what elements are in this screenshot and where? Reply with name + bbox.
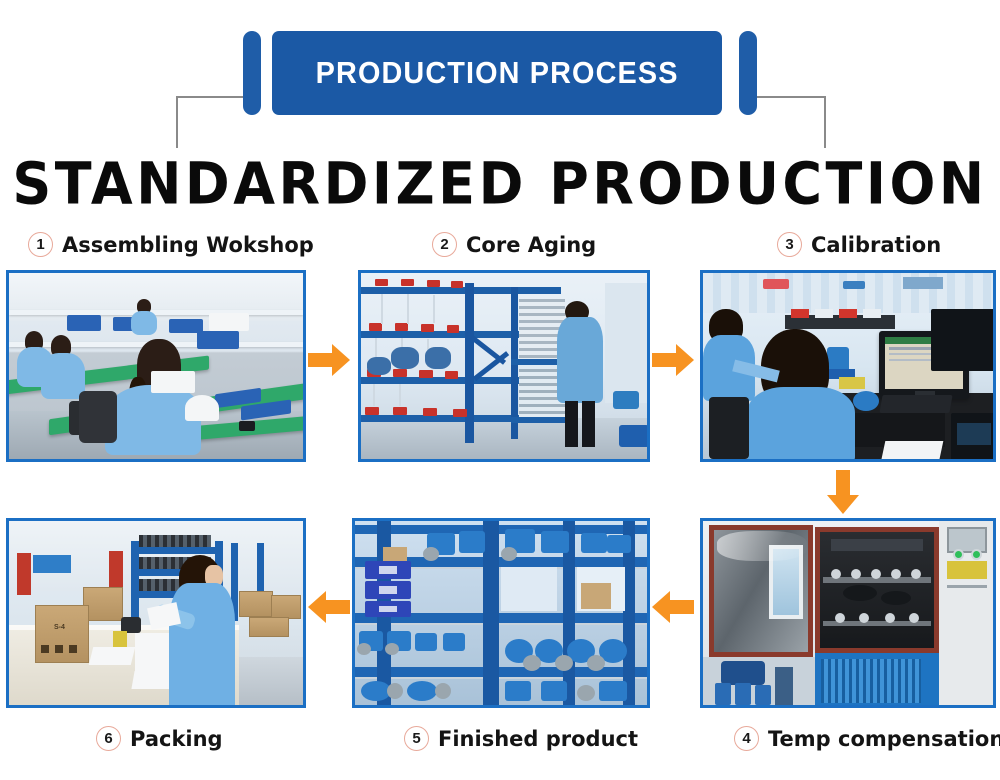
step-label-text-2: Core Aging — [466, 233, 596, 257]
step-label-3: 3 Calibration — [777, 232, 941, 257]
production-process-infographic: PRODUCTION PROCESS STANDARDIZED PRODUCTI… — [0, 0, 1000, 780]
step-label-text-6: Packing — [130, 727, 223, 751]
header-connector-line-right — [756, 96, 826, 98]
photo-scene-packing: S-4 — [9, 521, 303, 705]
photo-frame-1 — [6, 270, 306, 462]
step-label-6: 6 Packing — [96, 726, 223, 751]
step-label-1: 1 Assembling Wokshop — [28, 232, 314, 257]
photo-frame-6: S-4 — [6, 518, 306, 708]
header-connector-line-right-down — [824, 96, 826, 148]
photo-frame-5 — [352, 518, 650, 708]
step-label-text-4: Temp compensation — [768, 727, 1000, 751]
step-number-badge-2: 2 — [432, 232, 457, 257]
arrow-step5-to-step6 — [308, 590, 350, 624]
arrow-step2-to-step3 — [652, 343, 694, 377]
step-number-badge-5: 5 — [404, 726, 429, 751]
step-photo-5[interactable] — [352, 518, 650, 708]
photo-scene-assembling-workshop — [9, 273, 303, 459]
arrow-step4-to-step5 — [652, 590, 694, 624]
step-number-badge-6: 6 — [96, 726, 121, 751]
photo-frame-3 — [700, 270, 996, 462]
step-label-text-3: Calibration — [811, 233, 941, 257]
step-photo-6[interactable]: S-4 — [6, 518, 306, 708]
photo-scene-calibration — [703, 273, 993, 459]
step-photo-4[interactable] — [700, 518, 996, 708]
packing-box-label: S-4 — [54, 624, 65, 631]
arrow-step1-to-step2 — [308, 343, 350, 377]
header-title-text: PRODUCTION PROCESS — [316, 55, 679, 91]
header-banner: PRODUCTION PROCESS — [0, 0, 1000, 148]
photo-scene-temp-compensation — [703, 521, 993, 705]
photo-frame-2 — [358, 270, 650, 462]
step-number-badge-3: 3 — [777, 232, 802, 257]
step-label-2: 2 Core Aging — [432, 232, 596, 257]
arrow-step3-to-step4 — [826, 470, 860, 514]
header-title-plate: PRODUCTION PROCESS — [272, 31, 722, 115]
step-photo-1[interactable] — [6, 270, 306, 462]
page-title: STANDARDIZED PRODUCTION — [0, 149, 1000, 217]
photo-scene-temp-compensation-frame — [700, 518, 996, 708]
photo-scene-core-aging — [361, 273, 647, 459]
header-connector-line-left-down — [176, 96, 178, 148]
header-accent-bar-right — [739, 31, 757, 115]
photo-scene-finished-product — [355, 521, 647, 705]
step-number-badge-1: 1 — [28, 232, 53, 257]
step-label-text-1: Assembling Wokshop — [62, 233, 314, 257]
header-accent-bar-left — [243, 31, 261, 115]
header-connector-line-left — [176, 96, 246, 98]
step-label-4: 4 Temp compensation — [734, 726, 1000, 751]
step-number-badge-4: 4 — [734, 726, 759, 751]
step-label-5: 5 Finished product — [404, 726, 638, 751]
step-photo-2[interactable] — [358, 270, 650, 462]
step-photo-3[interactable] — [700, 270, 996, 462]
step-label-text-5: Finished product — [438, 727, 638, 751]
